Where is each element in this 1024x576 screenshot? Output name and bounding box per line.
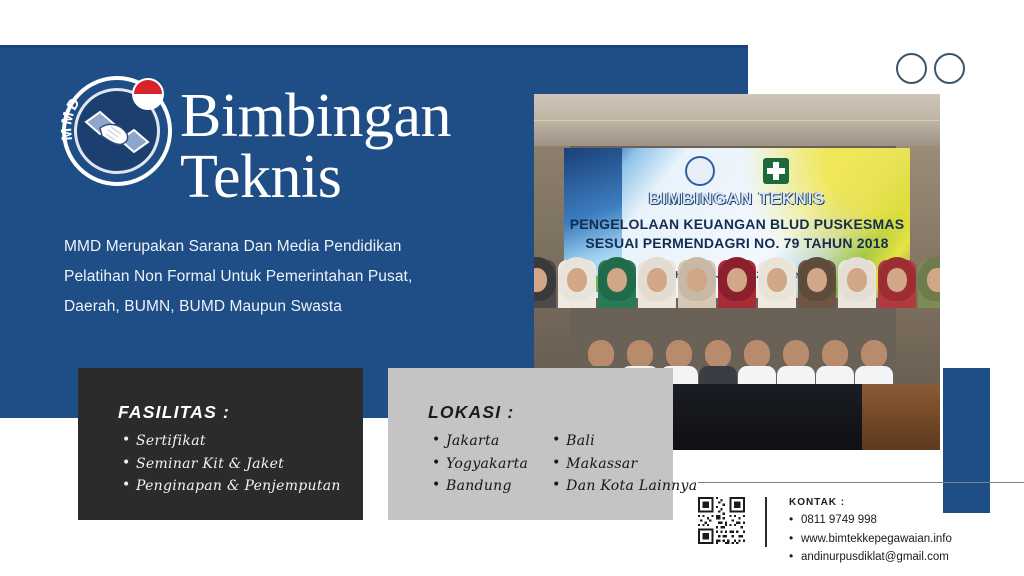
list-item: Yogyakarta [432, 453, 528, 476]
mmd-logo: MMD [58, 72, 176, 190]
banner-health-cross-icon [763, 158, 789, 184]
hero-description-line3: Daerah, BUMN, BUMD Maupun Swasta [64, 292, 514, 322]
locations-list: Jakarta Yogyakarta Bandung Bali Makassar… [432, 430, 697, 498]
locations-column-1: Jakarta Yogyakarta Bandung [432, 430, 528, 498]
photo-ceiling [534, 94, 940, 146]
list-item: Dan Kota Lainnya [552, 475, 697, 498]
svg-text:MMD: MMD [58, 93, 85, 141]
list-item: Jakarta [432, 430, 528, 453]
page-title-line2: Teknis [180, 147, 530, 208]
page-title-line1: Bimbingan [180, 82, 451, 150]
handshake-icon [84, 106, 150, 158]
footer-divider-line [698, 482, 1024, 483]
locations-card: LOKASI : Jakarta Yogyakarta Bandung Bali… [388, 368, 673, 520]
logo-mmd-text: MMD [58, 93, 85, 141]
banner-subtitle-line1: PENGELOLAAN KEUANGAN BLUD PUSKESMAS [564, 216, 910, 232]
person [638, 262, 676, 308]
person [918, 262, 940, 308]
list-item: Seminar Kit & Jaket [122, 453, 341, 476]
photo-people-back-row [534, 262, 940, 308]
poster-canvas: MMD Bimbingan Teknis MMD Merupakan Saran… [0, 0, 1024, 576]
list-item: Sertifikat [122, 430, 341, 453]
circle-outline-icon [896, 53, 927, 84]
contact-website[interactable]: www.bimtekkepegawaian.info [789, 530, 952, 549]
flag-red-stripe [134, 80, 162, 94]
facilities-list: Sertifikat Seminar Kit & Jaket Penginapa… [122, 430, 341, 498]
contact-divider [765, 497, 767, 547]
list-item: Bali [552, 430, 697, 453]
blue-accent-bar-right [943, 368, 990, 513]
list-item: Makassar [552, 453, 697, 476]
hero-description-line1: MMD Merupakan Sarana Dan Media Pendidika… [64, 232, 514, 262]
person [878, 262, 916, 308]
contact-label: KONTAK : [789, 497, 952, 508]
person [678, 262, 716, 308]
list-item: Penginapan & Penjemputan [122, 475, 341, 498]
contact-block: KONTAK : 0811 9749 998 www.bimtekkepegaw… [698, 497, 952, 567]
qr-code-icon[interactable] [698, 497, 745, 544]
person [838, 262, 876, 308]
banner-mmd-logo-icon [685, 156, 715, 186]
person [718, 262, 756, 308]
banner-logo-row [685, 156, 789, 186]
hero-description: MMD Merupakan Sarana Dan Media Pendidika… [64, 232, 514, 323]
photo-floor [862, 384, 940, 450]
hero-description-line2: Pelatihan Non Formal Untuk Pemerintahan … [64, 262, 514, 292]
person [798, 262, 836, 308]
circle-outline-icon [934, 53, 965, 84]
facilities-card: FASILITAS : Sertifikat Seminar Kit & Jak… [78, 368, 363, 520]
person [598, 262, 636, 308]
person [534, 262, 556, 308]
contact-email[interactable]: andinurpusdiklat@gmail.com [789, 548, 952, 567]
contact-phone[interactable]: 0811 9749 998 [789, 511, 952, 530]
locations-column-2: Bali Makassar Dan Kota Lainnya [552, 430, 697, 498]
person [758, 262, 796, 308]
person [558, 262, 596, 308]
banner-subtitle-line2: SESUAI PERMENDAGRI NO. 79 TAHUN 2018 [564, 235, 910, 251]
page-title: Bimbingan Teknis [180, 86, 530, 208]
banner-title: BIMBINGAN TEKNIS [564, 190, 910, 209]
list-item: Bandung [432, 475, 528, 498]
decorative-circles [896, 53, 965, 84]
locations-title: LOKASI : [428, 402, 514, 423]
contact-details: KONTAK : 0811 9749 998 www.bimtekkepegaw… [785, 497, 952, 567]
facilities-title: FASILITAS : [118, 402, 230, 423]
